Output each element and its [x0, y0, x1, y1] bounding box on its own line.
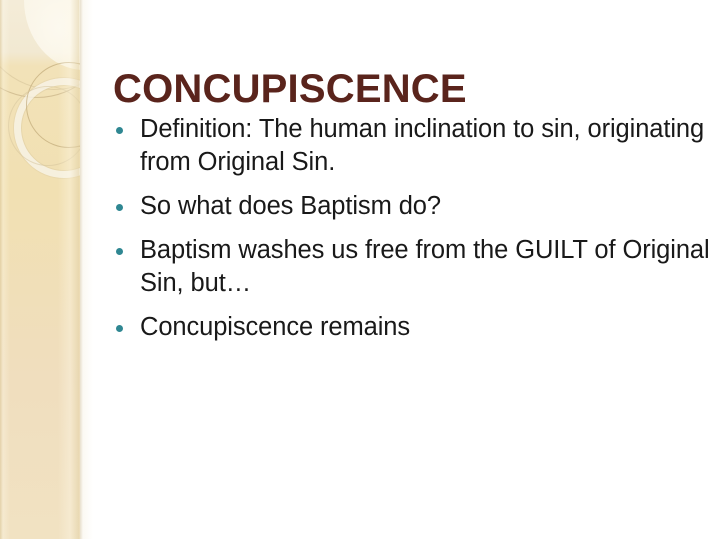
bullet-dot-icon	[116, 204, 123, 211]
ring-lobe-icon	[24, 0, 80, 70]
page-title: CONCUPISCENCE	[113, 65, 467, 113]
bullet-dot-icon	[116, 248, 123, 255]
list-item-text: So what does Baptism do?	[140, 190, 713, 223]
bullet-list: Definition: The human inclination to sin…	[113, 113, 713, 344]
list-item: Definition: The human inclination to sin…	[113, 113, 713, 179]
bullet-dot-icon	[116, 127, 123, 134]
list-item-text: Concupiscence remains	[140, 311, 713, 344]
list-item: Concupiscence remains	[113, 311, 713, 344]
decorative-sidebar-panel	[0, 0, 80, 539]
ring-thin-secondary-icon	[8, 86, 80, 166]
list-item-text: Definition: The human inclination to sin…	[140, 113, 713, 179]
presentation-slide: CONCUPISCENCE Definition: The human incl…	[0, 0, 720, 539]
slide-content: CONCUPISCENCE Definition: The human incl…	[80, 0, 720, 539]
ring-thick-icon	[14, 78, 80, 178]
list-item: Baptism washes us free from the GUILT of…	[113, 234, 713, 300]
sidebar-sheen-overlay	[0, 0, 80, 539]
list-item: So what does Baptism do?	[113, 190, 713, 223]
ring-arc-icon	[0, 0, 80, 98]
bullet-dot-icon	[116, 325, 123, 332]
list-item-text: Baptism washes us free from the GUILT of…	[140, 234, 713, 300]
ring-arc-inner-icon	[0, 0, 80, 90]
ring-thin-icon	[26, 62, 80, 148]
